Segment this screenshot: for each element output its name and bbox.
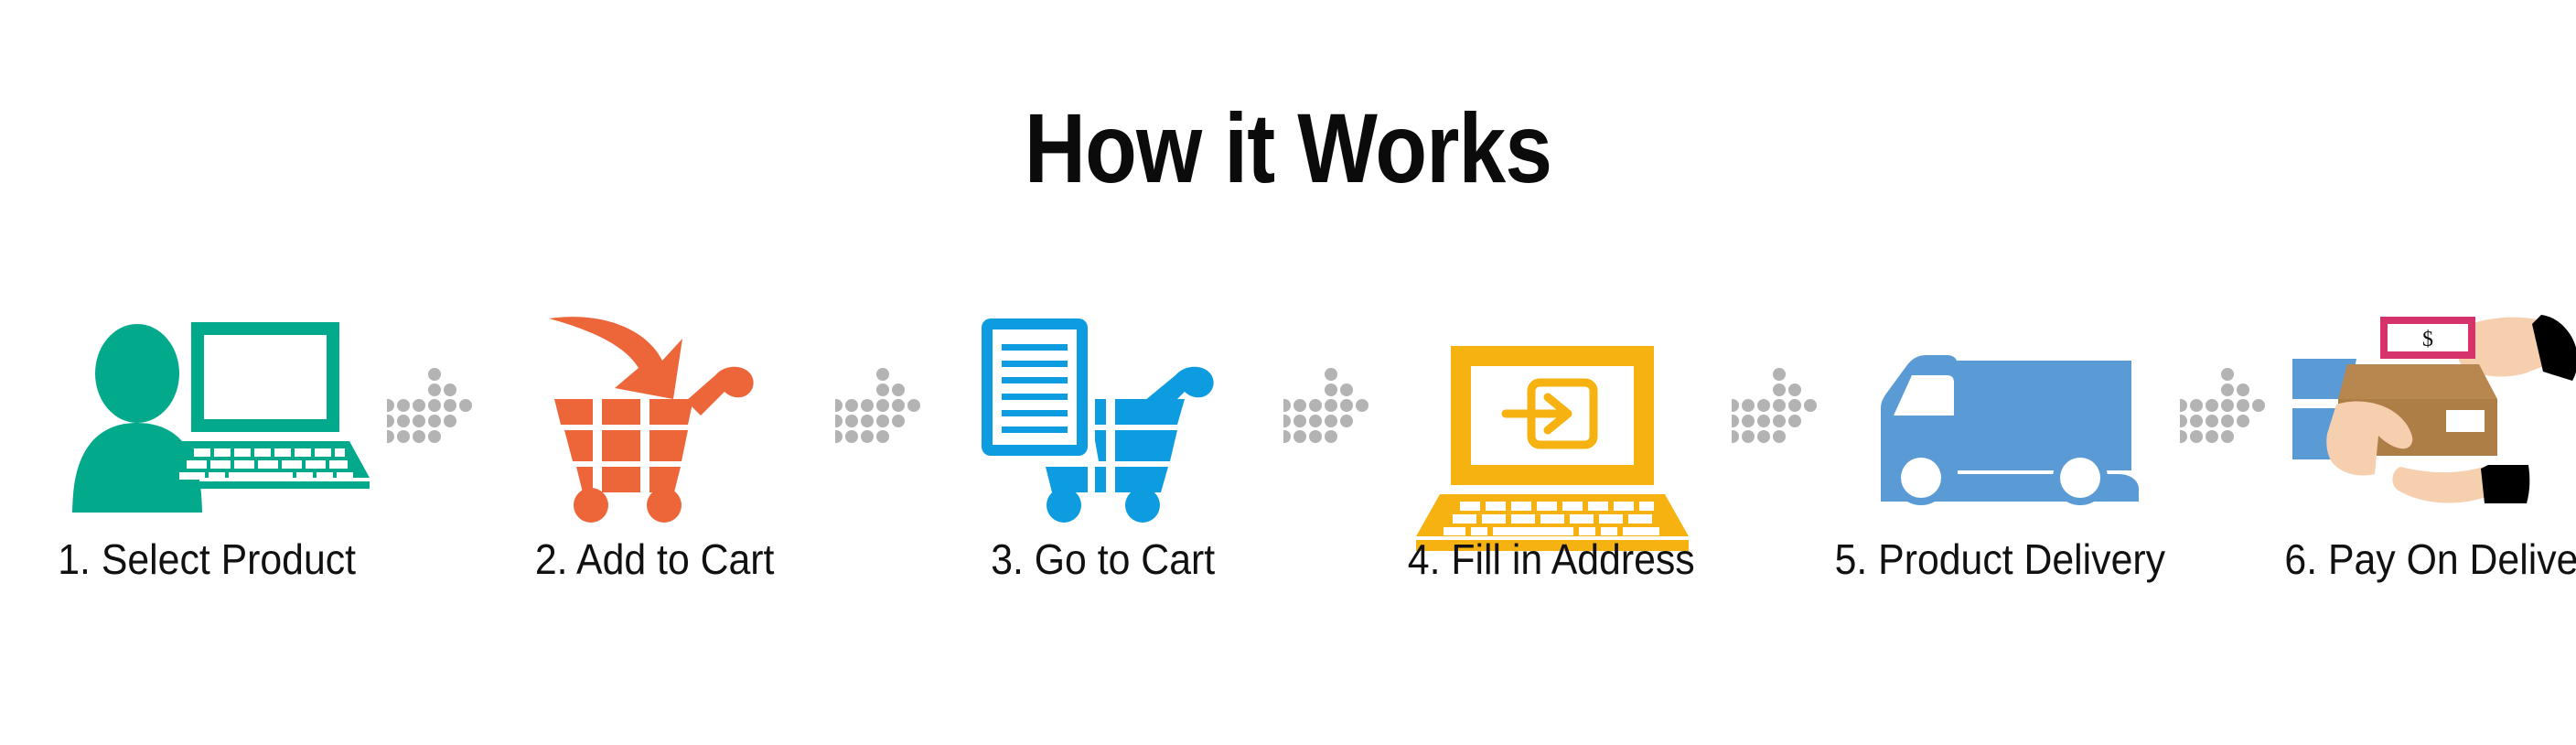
step-6-art: $	[2278, 302, 2576, 513]
step-1-select-product[interactable]: 1. Select Product	[37, 302, 377, 582]
step-2-art	[485, 302, 825, 513]
step-6-label: 6. Pay On Delivery	[2285, 536, 2576, 582]
separator-arrow-4	[1722, 302, 1830, 513]
banknote-dollar-symbol: $	[2422, 328, 2433, 351]
hands-exchange-box-and-cash-icon: $	[2292, 302, 2576, 513]
step-3-art	[933, 302, 1273, 513]
separator-arrow-5	[2170, 302, 2278, 513]
page-title: How it Works	[180, 99, 2396, 198]
separator-arrow-1	[377, 302, 485, 513]
step-4-label: 4. Fill in Address	[1408, 536, 1695, 582]
document-with-cart-icon	[980, 311, 1227, 513]
separator-arrow-3	[1273, 302, 1381, 513]
step-3-label: 3. Go to Cart	[992, 536, 1216, 582]
person-with-laptop-icon	[70, 311, 344, 513]
step-6-pay-on-delivery[interactable]: $ 6. Pay On Delivery	[2278, 302, 2576, 582]
delivery-truck-icon	[1853, 311, 2146, 513]
how-it-works-infographic: How it Works	[0, 0, 2576, 745]
steps-row: 1. Select Product	[37, 302, 2543, 632]
step-5-art	[1830, 302, 2170, 513]
step-2-add-to-cart[interactable]: 2. Add to Cart	[485, 302, 825, 582]
step-5-product-delivery[interactable]: 5. Product Delivery	[1830, 302, 2170, 582]
dotted-right-arrow-icon	[387, 367, 475, 448]
step-1-label: 1. Select Product	[58, 536, 356, 582]
cart-with-curved-arrow-icon	[536, 311, 774, 513]
separator-arrow-2	[825, 302, 933, 513]
step-1-art	[37, 302, 377, 513]
step-4-fill-in-address[interactable]: 4. Fill in Address	[1381, 302, 1722, 582]
dotted-right-arrow-icon	[2180, 367, 2268, 448]
step-3-go-to-cart[interactable]: 3. Go to Cart	[933, 302, 1273, 582]
step-4-art	[1381, 302, 1722, 513]
step-5-label: 5. Product Delivery	[1834, 536, 2164, 582]
dotted-right-arrow-icon	[1283, 367, 1371, 448]
dotted-right-arrow-icon	[835, 367, 923, 448]
dotted-right-arrow-icon	[1732, 367, 1819, 448]
step-2-label: 2. Add to Cart	[535, 536, 775, 582]
laptop-with-login-arrow-icon	[1414, 311, 1689, 513]
